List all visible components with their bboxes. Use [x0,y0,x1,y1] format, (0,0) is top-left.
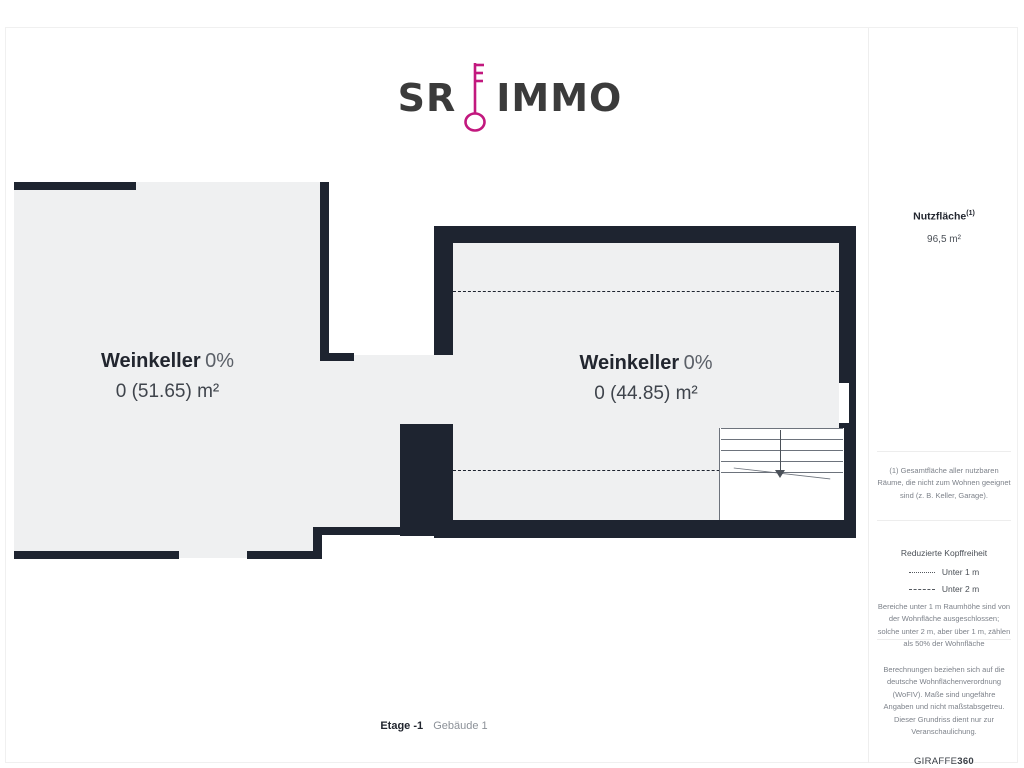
corridor-opening [400,355,453,433]
headroom-title: Reduzierte Kopffreiheit [877,548,1011,558]
stair-direction-line [780,430,781,474]
headroom-legend-under-1m: Unter 1 m [877,567,1011,577]
room-percent-left: 0% [205,350,234,372]
stair-step [721,450,843,451]
dashed-line-icon [909,589,935,590]
floorplan-page: SR IMMO [0,0,1024,768]
headroom-note: Bereiche unter 1 m Raumhöhe sind von der… [877,601,1011,651]
usable-area-footnote: (1) Gesamtfläche aller nutzbaren Räume, … [869,465,1019,502]
wall-left-room-bottom-left [14,551,179,559]
stair-step [721,461,843,462]
headroom-section: Reduzierte Kopffreiheit Unter 1 m Unter … [869,548,1019,651]
usable-area-heading: Nutzfläche(1) [877,210,1011,223]
stair-step [721,428,843,429]
usable-area-footnote-marker: (1) [966,210,975,217]
info-sidebar: Nutzfläche(1) 96,5 m² (1) Gesamtfläche a… [868,28,1018,763]
sidebar-divider-3 [877,639,1011,640]
disclaimer-text: Berechnungen beziehen sich auf die deuts… [877,664,1011,738]
headroom-legend-label-1: Unter 1 m [942,567,979,577]
sidebar-divider-2 [877,520,1011,521]
wall-left-room-top [14,182,136,190]
window-opening-right [839,383,849,423]
building-label: Gebäude 1 [433,720,487,732]
room-name-left: Weinkeller [101,350,201,372]
corridor-fill-lower [318,505,408,529]
plan-footer: Etage -1 Gebäude 1 [0,720,868,732]
brand-suffix: 360 [957,756,974,767]
staircase [719,428,843,520]
room-name-right: Weinkeller [579,352,679,374]
wall-left-room-right-foot [329,353,354,361]
room-area-left: 0 (51.65) m² [14,379,321,405]
usable-area-heading-text: Nutzfläche [913,211,966,223]
floor-label: Etage -1 [380,720,423,732]
disclaimer-section: Berechnungen beziehen sich auf die deuts… [869,664,1019,767]
wall-left-room-right-upper [320,182,329,361]
room-label-right: Weinkeller 0% 0 (44.85) m² [453,350,839,407]
usable-area-value: 96,5 m² [877,234,1011,245]
usable-area-section: Nutzfläche(1) 96,5 m² [869,210,1019,245]
sidebar-divider-1 [877,451,1011,452]
brand-prefix: GIRAFFE [914,756,957,767]
wall-corridor-bottom [313,527,408,535]
stair-direction-arrow-icon [775,470,785,478]
headroom-legend-label-2: Unter 2 m [942,584,979,594]
headroom-legend-under-2m: Unter 2 m [877,584,1011,594]
stair-step [721,439,843,440]
room-percent-right: 0% [684,352,713,374]
room-label-left: Weinkeller 0% 0 (51.65) m² [14,348,321,405]
wall-left-room-bottom-right [247,551,313,559]
room-area-right: 0 (44.85) m² [453,381,839,407]
dotted-line-icon [909,572,935,573]
giraffe360-brand: GIRAFFE360 [877,756,1011,767]
floorplan-canvas[interactable]: Weinkeller 0% 0 (51.65) m² [0,0,868,768]
headroom-dash-upper [453,291,839,292]
wall-corridor-divider [400,424,453,536]
